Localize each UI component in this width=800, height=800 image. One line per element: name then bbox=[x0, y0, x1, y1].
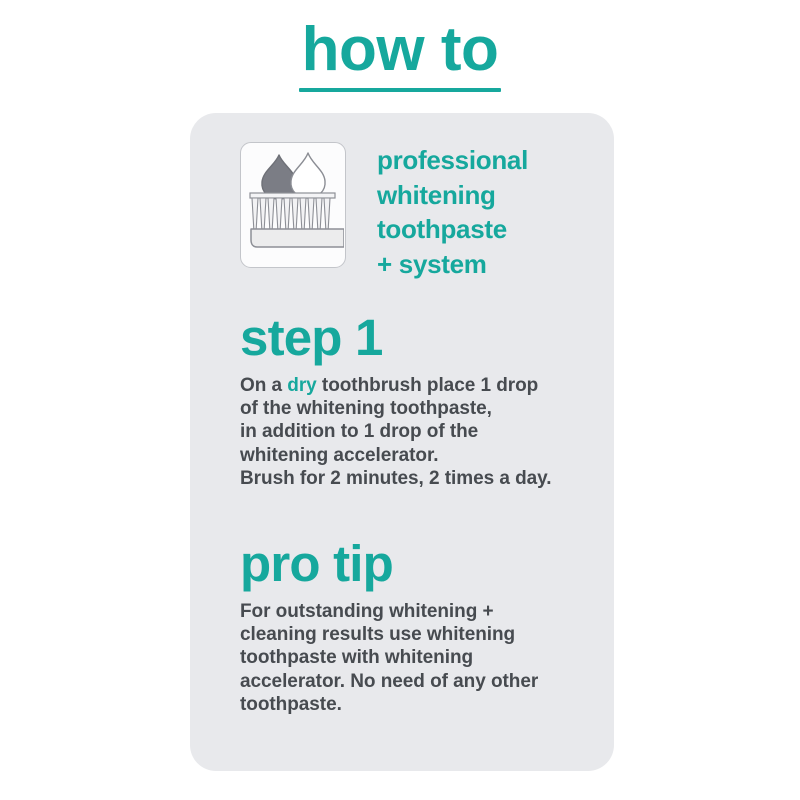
section-pro-tip-title: pro tip bbox=[240, 537, 580, 591]
step-1-body-text-before: On a bbox=[240, 375, 287, 396]
how-to-instruction-card-page: how to bbox=[0, 0, 800, 800]
section-step-1-title: step 1 bbox=[240, 311, 580, 365]
instructions-card: professional whitening toothpaste + syst… bbox=[190, 113, 614, 771]
title-underline-divider bbox=[299, 88, 501, 92]
toothbrush-with-two-paste-drops-icon bbox=[240, 142, 346, 268]
product-summary-block: professional whitening toothpaste + syst… bbox=[240, 142, 528, 281]
section-pro-tip-body: For outstanding whitening + cleaning res… bbox=[240, 600, 580, 716]
section-pro-tip: pro tip For outstanding whitening + clea… bbox=[240, 537, 580, 716]
page-header: how to bbox=[0, 18, 800, 92]
step-1-highlight-dry: dry bbox=[287, 375, 316, 396]
section-step-1: step 1 On a dry toothbrush place 1 drop … bbox=[240, 311, 580, 490]
page-title: how to bbox=[0, 18, 800, 82]
product-name-label: professional whitening toothpaste + syst… bbox=[377, 142, 528, 281]
section-step-1-body: On a dry toothbrush place 1 drop of the … bbox=[240, 374, 580, 490]
